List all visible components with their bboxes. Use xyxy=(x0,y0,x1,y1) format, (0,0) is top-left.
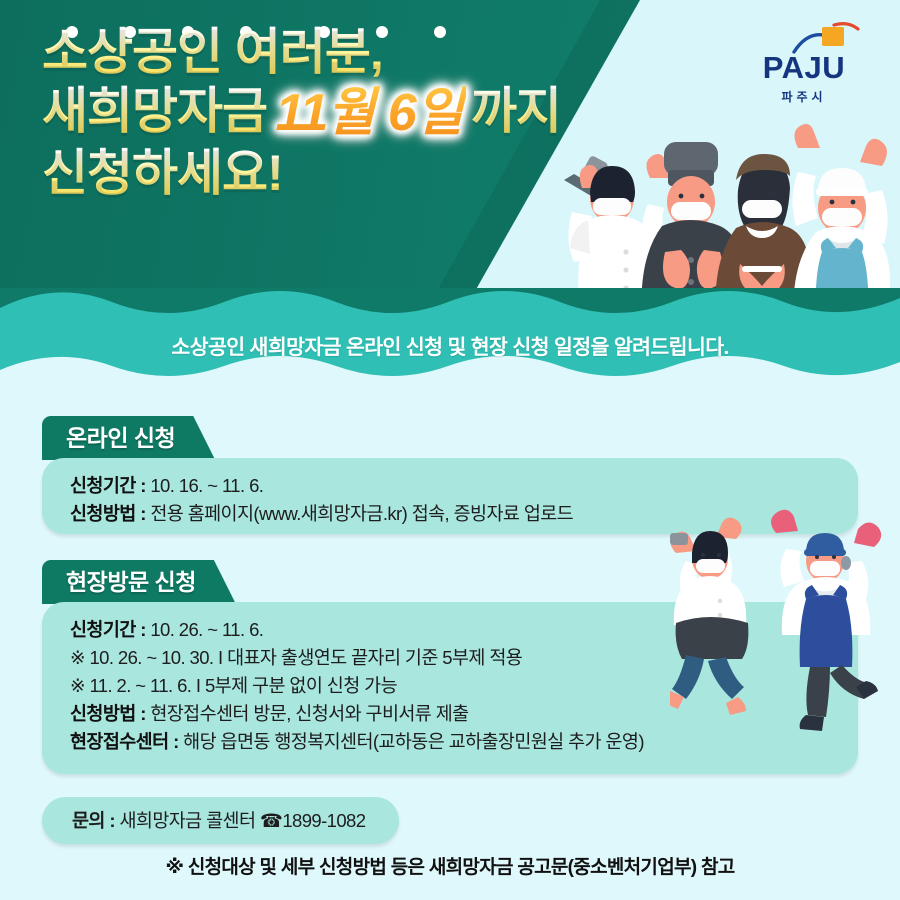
tab-onsite-application-label: 현장방문 신청 xyxy=(66,560,196,604)
headline-line-2-suffix: 까지 xyxy=(471,85,561,138)
row-online-period-label: 신청기간 xyxy=(70,475,136,496)
inquiry-pill: 문의 : 새희망자금 콜센터 ☎1899-1082 xyxy=(42,797,399,844)
header-section: PAJU 파주시 소상공인 여러분, 새희망자금 11월 6일 까지 신청하세요… xyxy=(0,0,900,300)
row-online-period-value: 10. 16. ~ 11. 6. xyxy=(150,475,263,496)
headline-deadline-highlight: 11월 6일 xyxy=(271,86,466,141)
row-onsite-method-value: 현장접수센터 방문, 신청서와 구비서류 제출 xyxy=(150,703,468,724)
headline: 소상공인 여러분, 새희망자금 11월 6일 까지 신청하세요! xyxy=(42,26,682,202)
poster-root: PAJU 파주시 소상공인 여러분, 새희망자금 11월 6일 까지 신청하세요… xyxy=(0,0,900,900)
paju-logo: PAJU 파주시 xyxy=(744,22,864,114)
headline-line-3-text: 신청하세요! xyxy=(42,147,283,200)
row-onsite-center-value: 해당 읍면동 행정복지센터(교하동은 교하출장민원실 추가 운영) xyxy=(183,731,644,752)
inquiry-value: 새희망자금 콜센터 ☎1899-1082 xyxy=(119,810,365,831)
tab-online-application: 온라인 신청 xyxy=(42,416,215,460)
headline-line-2: 새희망자금 11월 6일 까지 xyxy=(42,85,682,141)
footer-note: ※ 신청대상 및 세부 신청방법 등은 새희망자금 공고문(중소벤처기업부) 참… xyxy=(0,852,900,879)
paju-logo-subtitle: 파주시 xyxy=(744,88,864,105)
headline-line-3: 신청하세요! xyxy=(42,147,682,200)
tab-online-application-label: 온라인 신청 xyxy=(66,416,175,460)
paju-logo-text: PAJU xyxy=(744,52,864,83)
band-subtitle-text: 소상공인 새희망자금 온라인 신청 및 현장 신청 일정을 알려드립니다. xyxy=(0,330,900,360)
row-onsite-method-label: 신청방법 xyxy=(70,703,136,724)
inquiry-label: 문의 xyxy=(72,810,105,831)
row-online-method-label: 신청방법 xyxy=(70,503,136,524)
row-onsite-period-label: 신청기간 xyxy=(70,619,136,640)
row-online-period: 신청기간 : 10. 16. ~ 11. 6. xyxy=(70,472,832,500)
tab-onsite-application: 현장방문 신청 xyxy=(42,560,236,604)
headline-line-1: 소상공인 여러분, xyxy=(42,26,682,79)
row-online-method-value: 전용 홈페이지(www.새희망자금.kr) 접속, 증빙자료 업로드 xyxy=(150,503,573,524)
headline-line-1-text: 소상공인 여러분, xyxy=(42,26,383,79)
row-onsite-center-label: 현장접수센터 xyxy=(70,731,169,752)
row-onsite-period-value: 10. 26. ~ 11. 6. xyxy=(150,619,263,640)
headline-line-2-prefix: 새희망자금 xyxy=(42,85,267,138)
bottom-illustration xyxy=(670,505,890,745)
